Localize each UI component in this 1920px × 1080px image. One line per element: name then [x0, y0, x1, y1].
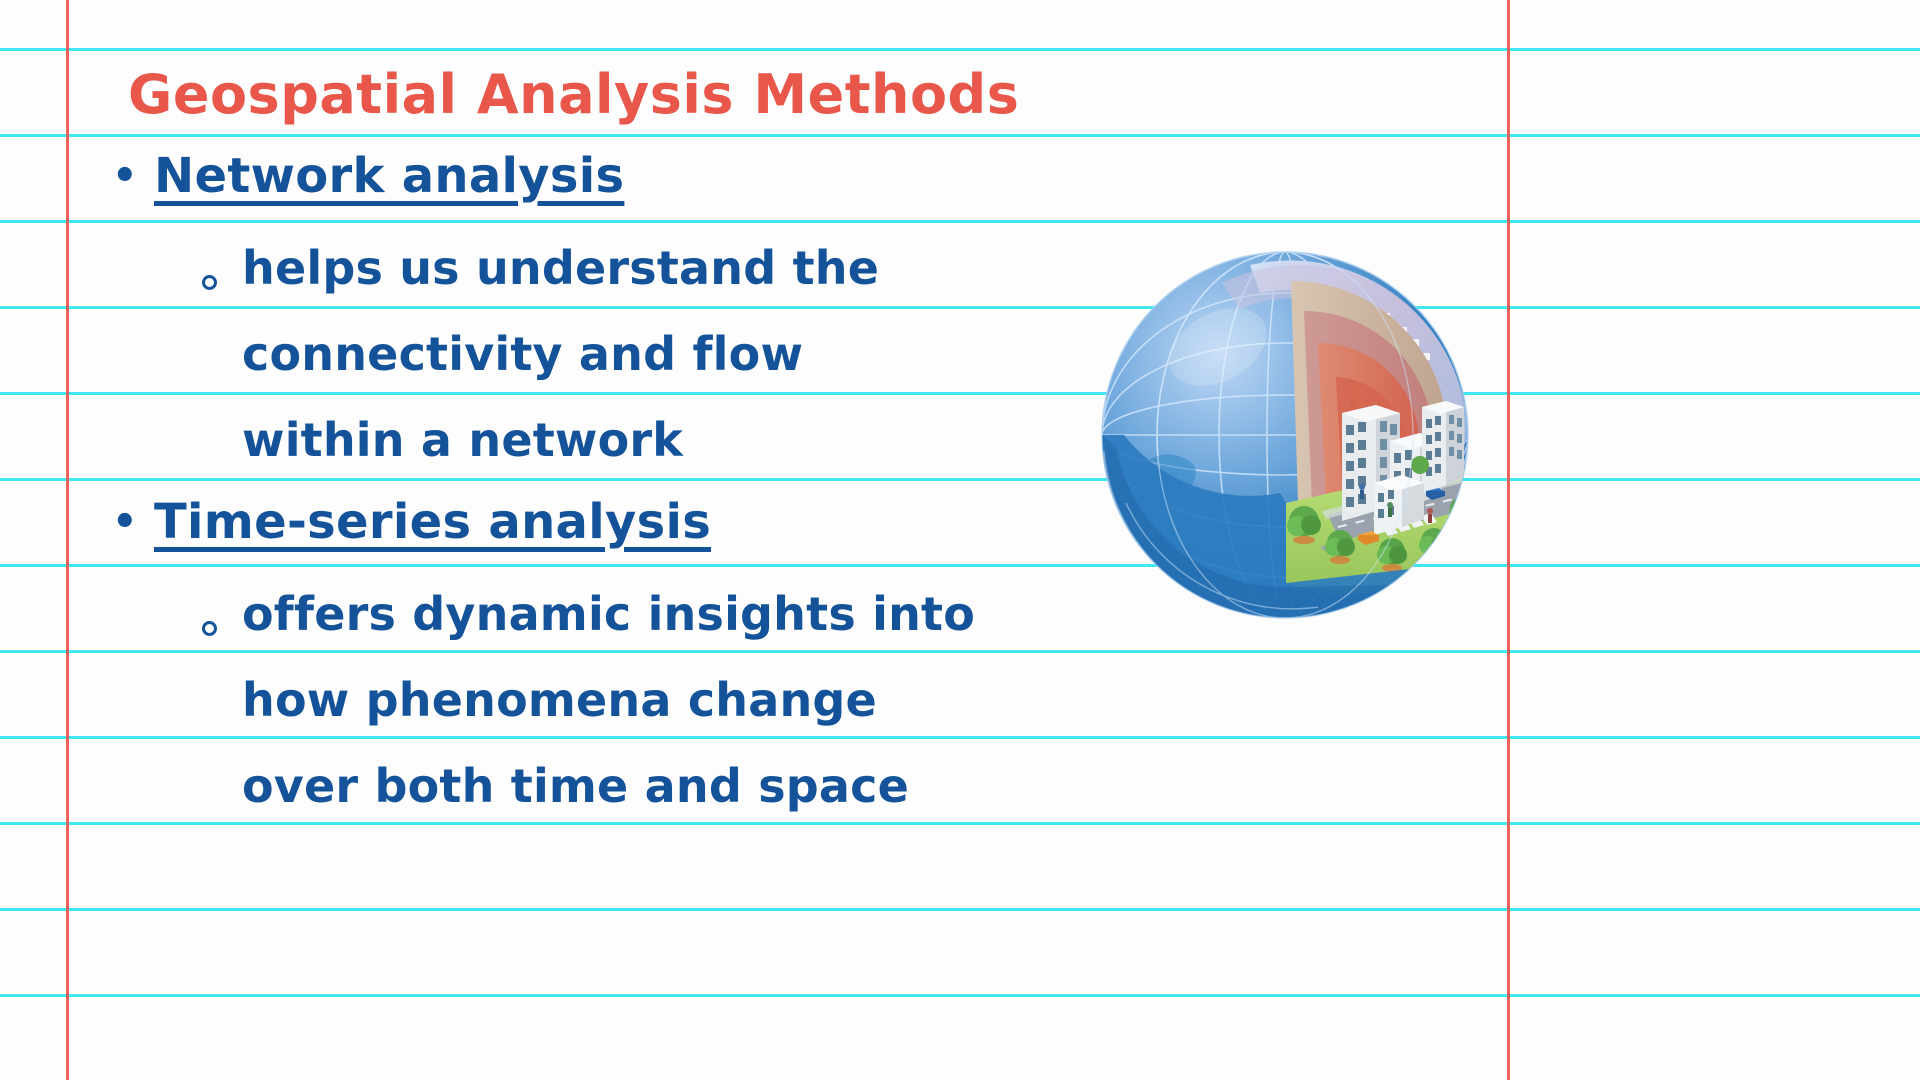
disc-bullet-icon: • [112, 494, 154, 542]
sub-bullet-line: helps us understand the [242, 225, 879, 311]
sub-bullet-line: within a network [242, 397, 879, 483]
bullet-time-series-analysis: • Time-series analysis [112, 494, 711, 550]
hollow-circle-bullet-icon [202, 225, 242, 301]
sub-bullet-time-series-analysis: offers dynamic insights into how phenome… [202, 571, 975, 829]
sub-bullet-line: connectivity and flow [242, 311, 879, 397]
bullet-network-analysis: • Network analysis [112, 148, 624, 204]
disc-bullet-icon: • [112, 148, 154, 196]
sub-bullet-line: offers dynamic insights into [242, 571, 975, 657]
sub-bullet-lines: helps us understand the connectivity and… [242, 225, 879, 483]
sub-bullet-line: how phenomena change [242, 657, 975, 743]
sub-bullet-line: over both time and space [242, 743, 975, 829]
page-title: Geospatial Analysis Methods [128, 63, 1019, 126]
sub-bullet-lines: offers dynamic insights into how phenome… [242, 571, 975, 829]
bullet-label: Network analysis [154, 148, 624, 204]
slide-canvas: Geospatial Analysis Methods • Network an… [0, 0, 1920, 1080]
slide-content: Geospatial Analysis Methods • Network an… [0, 0, 1920, 1080]
sub-bullet-network-analysis: helps us understand the connectivity and… [202, 225, 879, 483]
hollow-circle-bullet-icon [202, 571, 242, 647]
bullet-label: Time-series analysis [154, 494, 711, 550]
